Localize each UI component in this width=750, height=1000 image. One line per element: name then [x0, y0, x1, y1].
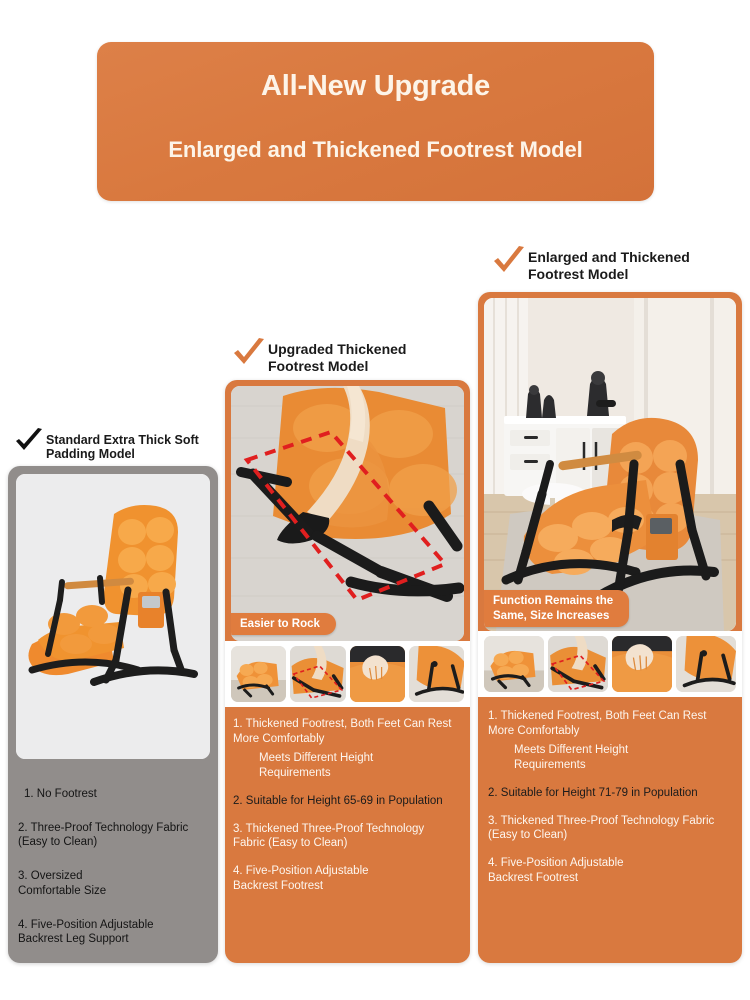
feature-item: 1. Thickened Footrest, Both Feet Can Res…: [233, 717, 462, 746]
product-card-upgraded[interactable]: Easier to Rock: [225, 380, 470, 963]
thumbnail-hand-pressing-cushion[interactable]: [350, 646, 405, 702]
column-heading-enlarged: Enlarged and Thickened Footrest Model: [492, 246, 742, 283]
feature-list-upgraded: 1. Thickened Footrest, Both Feet Can Res…: [225, 707, 470, 903]
feature-item: 3. Thickened Three-Proof Technology Fabr…: [233, 822, 462, 851]
column-heading-label: Standard Extra Thick Soft Padding Model: [46, 428, 199, 462]
photo-badge-upgraded: Easier to Rock: [231, 613, 336, 635]
feature-list-standard: 1. No Footrest 2. Three-Proof Technology…: [8, 767, 218, 963]
thumbnail-footrest-detail[interactable]: [548, 636, 608, 692]
feature-item: 2. Suitable for Height 65-69 in Populati…: [233, 794, 462, 809]
column-heading-label: Enlarged and Thickened Footrest Model: [528, 246, 690, 283]
thumbnail-rocker-base[interactable]: [409, 646, 464, 702]
orange-check-icon: [492, 246, 526, 278]
orange-check-icon: [232, 338, 266, 370]
product-card-enlarged[interactable]: Function Remains the Same, Size Increase…: [478, 292, 742, 963]
product-card-standard[interactable]: 1. No Footrest 2. Three-Proof Technology…: [8, 466, 218, 963]
feature-item: 4. Five-Position Adjustable Backrest Foo…: [488, 856, 732, 885]
thumbnail-strip-enlarged: [478, 631, 742, 697]
feature-item: 3. Thickened Three-Proof Technology Fabr…: [488, 814, 732, 843]
feature-item: 2. Three-Proof Technology Fabric (Easy t…: [18, 821, 208, 850]
header-banner: All-New Upgrade Enlarged and Thickened F…: [97, 42, 654, 201]
feature-item: 2. Suitable for Height 71-79 in Populati…: [488, 786, 732, 801]
product-photo-standard: [16, 474, 210, 759]
photo-badge-enlarged: Function Remains the Same, Size Increase…: [484, 590, 629, 627]
product-photo-enlarged: Function Remains the Same, Size Increase…: [484, 298, 736, 631]
thumbnail-chair-in-room[interactable]: [231, 646, 286, 702]
thumbnail-strip-upgraded: [225, 641, 470, 707]
feature-item-sub: Meets Different Height Requirements: [514, 743, 732, 772]
column-heading-standard: Standard Extra Thick Soft Padding Model: [14, 428, 219, 462]
feature-item-sub: Meets Different Height Requirements: [259, 751, 462, 780]
feature-list-enlarged: 1. Thickened Footrest, Both Feet Can Res…: [478, 697, 742, 895]
column-heading-label: Upgraded Thickened Footrest Model: [268, 338, 406, 375]
banner-subtitle: Enlarged and Thickened Footrest Model: [97, 137, 654, 163]
black-check-icon: [14, 428, 44, 456]
feature-item: 1. Thickened Footrest, Both Feet Can Res…: [488, 709, 732, 738]
column-heading-upgraded: Upgraded Thickened Footrest Model: [232, 338, 467, 375]
thumbnail-chair-in-room[interactable]: [484, 636, 544, 692]
product-photo-upgraded: Easier to Rock: [231, 386, 464, 641]
banner-title: All-New Upgrade: [97, 70, 654, 103]
thumbnail-hand-pressing-cushion[interactable]: [612, 636, 672, 692]
feature-item: 4. Five-Position Adjustable Backrest Foo…: [233, 864, 462, 893]
feature-item: 3. Oversized Comfortable Size: [18, 869, 208, 898]
feature-item: 4. Five-Position Adjustable Backrest Leg…: [18, 918, 208, 947]
thumbnail-rocker-base[interactable]: [676, 636, 736, 692]
feature-item: 1. No Footrest: [24, 787, 208, 802]
thumbnail-footrest-detail[interactable]: [290, 646, 345, 702]
